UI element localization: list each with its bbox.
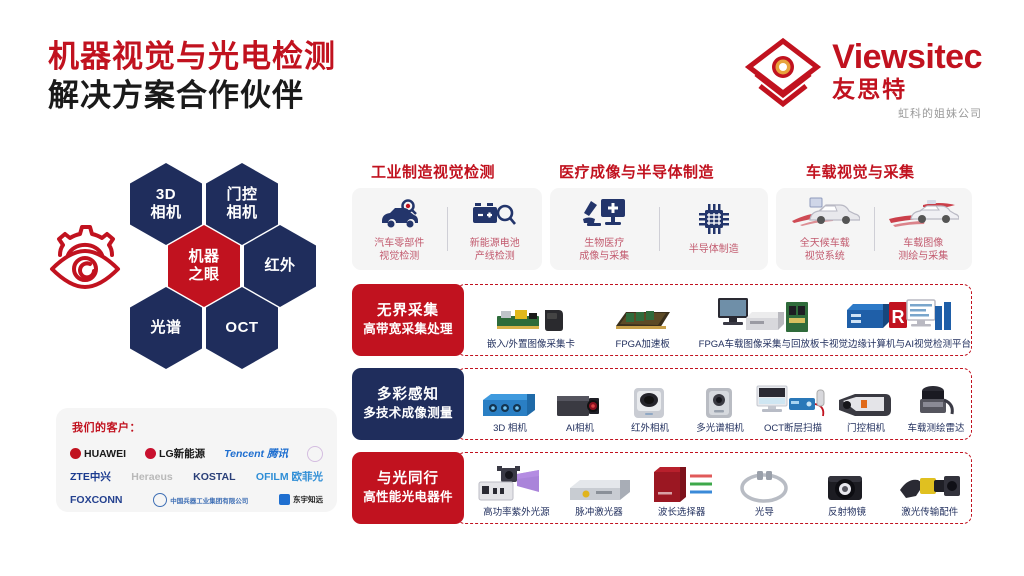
product-row-acquisition: 嵌入/外置图像采集卡 FPGA加速板 xyxy=(352,284,972,356)
ai-camera-icon xyxy=(553,380,607,420)
viewsitec-diamond-logo-icon xyxy=(744,36,822,114)
laser-delivery-accessory-icon xyxy=(898,464,962,504)
category-item-label: 生物医疗成像与采集 xyxy=(579,237,629,264)
product-item-pulsed-laser[interactable]: 脉冲激光器 xyxy=(558,448,641,523)
category-item-label: 全天候车载视觉系统 xyxy=(800,237,850,264)
brand-name-cn: 友思特 xyxy=(832,76,982,102)
product-item-label: 车载测绘雷达 xyxy=(907,423,964,434)
hex-center-line1: 机器 xyxy=(188,248,219,265)
brand-logo: Viewsitec 友思特 虹科的姐妹公司 xyxy=(744,36,982,121)
wavelength-selector-icon xyxy=(648,464,716,504)
category-item-biomedical[interactable]: 生物医疗成像与采集 xyxy=(550,195,659,264)
category-heading-automotive: 车载视觉与采集 xyxy=(806,161,915,182)
hex-label-line1: 红外 xyxy=(264,257,295,275)
brand-text-block: Viewsitec 友思特 虹科的姐妹公司 xyxy=(832,36,982,121)
product-item-frame-grabber[interactable]: 嵌入/外置图像采集卡 xyxy=(475,280,587,355)
logo-zte: ZTE中兴 xyxy=(70,469,111,484)
norinco-globe-icon xyxy=(153,493,167,507)
product-item-label: 脉冲激光器 xyxy=(575,507,623,518)
gear-eye-icon xyxy=(46,225,124,297)
product-item-infrared-camera[interactable]: 红外相机 xyxy=(615,364,685,439)
product-item-reflective-objective[interactable]: 反射物镜 xyxy=(806,448,889,523)
logo-norinco: 中国兵器工业集团有限公司 xyxy=(153,493,248,507)
category-item-battery-line[interactable]: 新能源电池产线检测 xyxy=(448,195,543,264)
product-item-label: AI相机 xyxy=(566,423,594,434)
hex-label-line2: 相机 xyxy=(226,204,257,221)
category-heading-medical: 医疗成像与半导体制造 xyxy=(559,161,714,182)
product-item-ai-camera[interactable]: AI相机 xyxy=(545,364,615,439)
product-item-wavelength-selector[interactable]: 波长选择器 xyxy=(640,448,723,523)
badge-line-2: 高带宽采集处理 xyxy=(363,321,453,337)
badge-line-2: 多技术成像测量 xyxy=(363,405,453,421)
title-line-2: 解决方案合作伙伴 xyxy=(48,77,336,116)
product-item-label: 光导 xyxy=(755,507,774,518)
huawei-petal-icon xyxy=(70,448,81,459)
category-item-label: 半导体制造 xyxy=(689,243,739,257)
customers-logo-row: FOXCONN 中国兵器工业集团有限公司 东宇知远 xyxy=(70,488,323,511)
product-item-label: 视觉边缘计算机与AI视觉检测平台 xyxy=(829,339,971,350)
product-item-label: 门控相机 xyxy=(847,423,885,434)
category-item-label: 汽车零部件视觉检测 xyxy=(374,237,424,264)
hex-label-line1: OCT xyxy=(225,319,258,337)
product-item-automotive-lidar[interactable]: 车载测绘雷达 xyxy=(901,364,971,439)
category-item-semiconductor[interactable]: 半导体制造 xyxy=(660,201,769,257)
product-item-label: 多光谱相机 xyxy=(696,423,744,434)
product-item-gated-camera[interactable]: 门控相机 xyxy=(831,364,901,439)
product-item-label: 反射物镜 xyxy=(828,507,866,518)
category-card-automotive: 全天候车载视觉系统 车载图像测绘与采集 xyxy=(776,188,972,270)
product-item-label: 红外相机 xyxy=(631,423,669,434)
hex-label-line1: 3D xyxy=(156,186,176,203)
customers-logo-grid: HUAWEI LG新能源 Tencent 腾讯 ZTE中兴 Heraeus KO… xyxy=(70,442,323,511)
product-item-label: 嵌入/外置图像采集卡 xyxy=(487,339,575,350)
car-inspection-icon xyxy=(378,195,420,229)
product-item-label: 激光传输配件 xyxy=(901,507,958,518)
frame-grabber-card-icon xyxy=(495,296,567,336)
category-heading-industrial: 工业制造视觉检测 xyxy=(371,161,495,182)
microscope-monitor-icon xyxy=(581,195,627,229)
category-item-allweather-vehicle[interactable]: 全天候车载视觉系统 xyxy=(776,195,874,264)
product-row-body: 嵌入/外置图像采集卡 FPGA加速板 xyxy=(456,284,972,356)
car-allweather-icon xyxy=(790,195,860,229)
brand-subtitle: 虹科的姐妹公司 xyxy=(832,105,982,121)
hex-label-line1: 光谱 xyxy=(150,319,181,337)
brand-name: Viewsitec xyxy=(832,40,982,74)
product-item-fpga-board[interactable]: FPGA加速板 xyxy=(587,280,699,355)
page-title: 机器视觉与光电检测 解决方案合作伙伴 xyxy=(48,38,336,116)
logo-ofilm: OFILM 欧菲光 xyxy=(256,469,323,484)
hex-label-line2: 相机 xyxy=(150,204,181,221)
product-item-label: 波长选择器 xyxy=(658,507,706,518)
logo-tencent: Tencent 腾讯 xyxy=(224,446,288,461)
product-item-light-guide[interactable]: 光导 xyxy=(723,448,806,523)
product-item-label: 高功率紫外光源 xyxy=(483,507,550,518)
product-item-label: 3D 相机 xyxy=(493,423,527,434)
infrared-camera-icon xyxy=(628,380,672,420)
product-row-body: 高功率紫外光源 脉冲激光器 xyxy=(456,452,972,524)
product-item-uv-light-source[interactable]: 高功率紫外光源 xyxy=(475,448,558,523)
logo-huawei: HUAWEI xyxy=(70,448,126,460)
edge-ai-platform-icon: R xyxy=(845,296,955,336)
badge-line-1: 无界采集 xyxy=(377,302,439,321)
product-item-label: OCT断层扫描 xyxy=(764,423,822,434)
oct-scanner-icon xyxy=(755,380,831,420)
product-item-label: FPGA车载图像采集与回放板卡 xyxy=(699,339,829,350)
slide-root: 机器视觉与光电检测 解决方案合作伙伴 Viewsitec 友思特 虹科的姐妹公司 xyxy=(0,0,1024,576)
badge-line-1: 与光同行 xyxy=(377,470,439,489)
hexagon-cluster: 3D 相机 门控 相机 机器 之眼 红外 光谱 OCT xyxy=(46,163,336,378)
uv-light-source-icon xyxy=(477,464,555,504)
fpga-automotive-playback-icon xyxy=(716,296,812,336)
multispectral-camera-icon xyxy=(701,380,739,420)
category-item-label: 车载图像测绘与采集 xyxy=(898,237,948,264)
car-mapping-icon xyxy=(887,195,959,229)
dongyu-square-icon xyxy=(279,494,290,505)
product-item-laser-delivery-accessory[interactable]: 激光传输配件 xyxy=(888,448,971,523)
battery-inspection-icon xyxy=(472,195,518,229)
product-item-multispectral-camera[interactable]: 多光谱相机 xyxy=(685,364,755,439)
product-row-badge-imaging[interactable]: 多彩感知 多技术成像测量 xyxy=(352,368,464,440)
3d-camera-icon xyxy=(481,380,539,420)
fpga-board-icon xyxy=(612,296,674,336)
logo-foxconn: FOXCONN xyxy=(70,494,123,506)
category-item-label: 新能源电池产线检测 xyxy=(470,237,520,264)
seal-circle-icon xyxy=(307,446,323,462)
logo-heraeus: Heraeus xyxy=(131,471,172,483)
product-item-oct-scanner[interactable]: OCT断层扫描 xyxy=(755,364,831,439)
logo-dongyu: 东宇知远 xyxy=(279,494,323,505)
product-item-3d-camera[interactable]: 3D 相机 xyxy=(475,364,545,439)
hex-label-line1: 门控 xyxy=(226,186,257,203)
product-row-body: 3D 相机 AI相机 xyxy=(456,368,972,440)
customers-logo-row: ZTE中兴 Heraeus KOSTAL OFILM 欧菲光 xyxy=(70,465,323,488)
logo-lg-chem: LG新能源 xyxy=(145,446,205,461)
customers-logo-row: HUAWEI LG新能源 Tencent 腾讯 xyxy=(70,442,323,465)
automotive-lidar-icon xyxy=(913,380,959,420)
customers-title: 我们的客户： xyxy=(72,419,337,435)
category-item-vehicle-mapping[interactable]: 车载图像测绘与采集 xyxy=(875,195,973,264)
logo-kostal: KOSTAL xyxy=(193,471,235,483)
badge-line-2: 高性能光电器件 xyxy=(363,489,453,505)
category-card-medical: 生物医疗成像与采集 xyxy=(550,188,768,270)
customers-card: 我们的客户： HUAWEI LG新能源 Tencent 腾讯 ZTE中兴 Her… xyxy=(56,408,337,512)
product-item-label: FPGA加速板 xyxy=(616,339,670,350)
product-item-edge-ai-platform[interactable]: R 视觉边缘计算机与AI视觉检测平台 xyxy=(829,280,971,355)
product-row-badge-acquisition[interactable]: 无界采集 高带宽采集处理 xyxy=(352,284,464,356)
badge-line-1: 多彩感知 xyxy=(377,386,439,405)
lg-circle-icon xyxy=(145,448,156,459)
reflective-objective-icon xyxy=(822,464,872,504)
product-row-photonics: 高功率紫外光源 脉冲激光器 xyxy=(352,452,972,524)
product-item-fpga-automotive[interactable]: FPGA车载图像采集与回放板卡 xyxy=(699,280,829,355)
pulsed-laser-icon xyxy=(566,464,632,504)
gated-camera-icon xyxy=(837,380,895,420)
svg-text:R: R xyxy=(892,307,905,327)
product-row-badge-photonics[interactable]: 与光同行 高性能光电器件 xyxy=(352,452,464,524)
product-row-imaging: 3D 相机 AI相机 xyxy=(352,368,972,440)
title-line-1: 机器视觉与光电检测 xyxy=(48,38,336,77)
light-guide-icon xyxy=(735,464,793,504)
category-item-auto-parts[interactable]: 汽车零部件视觉检测 xyxy=(352,195,447,264)
category-card-industrial: 汽车零部件视觉检测 xyxy=(352,188,542,270)
hex-center-line2: 之眼 xyxy=(188,266,219,283)
chip-icon xyxy=(697,201,731,235)
